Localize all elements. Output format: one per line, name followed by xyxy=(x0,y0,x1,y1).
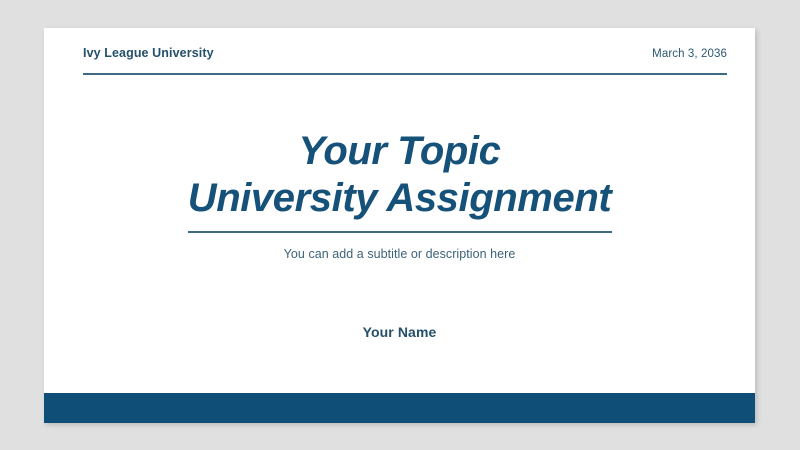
title-divider xyxy=(188,231,612,233)
presentation-slide[interactable]: Ivy League University March 3, 2036 Your… xyxy=(44,28,755,423)
slide-header: Ivy League University March 3, 2036 xyxy=(83,46,727,78)
organization-name: Ivy League University xyxy=(83,46,214,60)
footer-band xyxy=(44,393,755,423)
title-block: Your Topic University Assignment You can… xyxy=(44,128,755,261)
slide-stage: Ivy League University March 3, 2036 Your… xyxy=(0,0,800,450)
title-line-1: Your Topic xyxy=(44,128,755,175)
author-name: Your Name xyxy=(44,324,755,340)
header-row: Ivy League University March 3, 2036 xyxy=(83,46,727,68)
slide-subtitle: You can add a subtitle or description he… xyxy=(44,247,755,261)
header-divider xyxy=(83,73,727,75)
slide-date: March 3, 2036 xyxy=(652,48,727,60)
title-line-2: University Assignment xyxy=(44,175,755,222)
